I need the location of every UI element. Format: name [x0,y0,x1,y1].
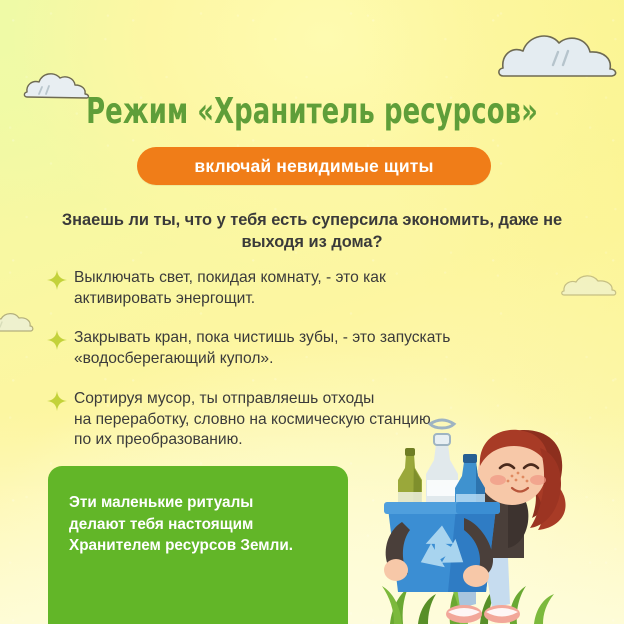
tip-text: Закрывать кран, пока чистишь зубы, - это… [74,328,450,369]
subtitle-pill-button[interactable]: включай невидимые щиты [137,147,491,185]
list-item: Выключать свет, покидая комнату, - это к… [47,268,594,309]
cloud-top-right-icon [496,28,620,82]
lead-question: Знаешь ли ты, что у тебя есть суперсила … [42,210,582,253]
sparkle-star-icon [47,270,67,290]
conclusion-text: Эти маленькие ритуалы делают тебя настоя… [69,492,328,557]
sparkle-star-icon [47,330,67,350]
tip-text: Выключать свет, покидая комнату, - это к… [74,268,386,309]
page-title: Режим «Хранитель ресурсов» [62,94,561,130]
cloud-mid-left-icon [0,309,42,335]
sparkle-star-icon [47,391,67,411]
girl-holding-recycling-bin-illustration [372,418,624,624]
poster-canvas: Режим «Хранитель ресурсов» включай невид… [0,0,624,624]
list-item: Закрывать кран, пока чистишь зубы, - это… [47,328,594,369]
conclusion-card: Эти маленькие ритуалы делают тебя настоя… [48,466,348,624]
subtitle-pill-label: включай невидимые щиты [194,156,433,177]
